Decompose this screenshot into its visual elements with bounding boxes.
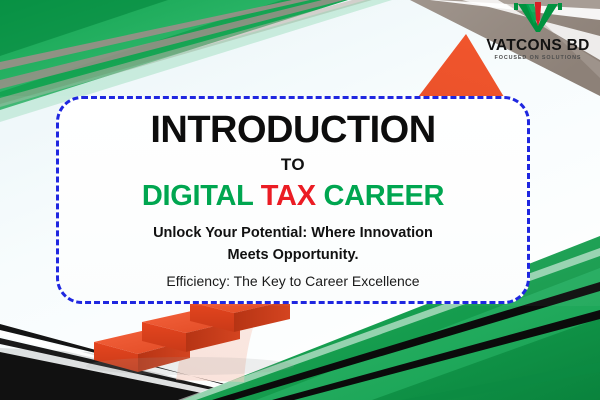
subtitle: Unlock Your Potential: Where Innovation … bbox=[153, 223, 433, 267]
page-title: INTRODUCTION bbox=[150, 111, 435, 149]
headline-word-digital: DIGITAL bbox=[142, 180, 253, 212]
content-card: INTRODUCTION TO DIGITAL TAX CAREER Unloc… bbox=[56, 96, 530, 304]
brand-tagline: FOCUSED ON SOLUTIONS bbox=[484, 56, 592, 61]
headline-word-career: CAREER bbox=[324, 180, 445, 212]
title-connector: TO bbox=[281, 155, 305, 175]
brand-logo: VATCONS BD FOCUSED ON SOLUTIONS bbox=[484, 2, 592, 60]
subtitle-line-3: Efficiency: The Key to Career Excellence bbox=[166, 272, 419, 292]
poster-canvas: INTRODUCTION TO DIGITAL TAX CAREER Unloc… bbox=[0, 0, 600, 400]
brand-name: VATCONS BD bbox=[484, 38, 592, 54]
subtitle-line-1: Unlock Your Potential: Where Innovation bbox=[153, 223, 433, 245]
subtitle-line-2: Meets Opportunity. bbox=[153, 245, 433, 267]
headline: DIGITAL TAX CAREER bbox=[142, 181, 444, 211]
headline-word-tax: TAX bbox=[261, 180, 316, 212]
vatcons-v-monogram-icon bbox=[484, 2, 592, 32]
